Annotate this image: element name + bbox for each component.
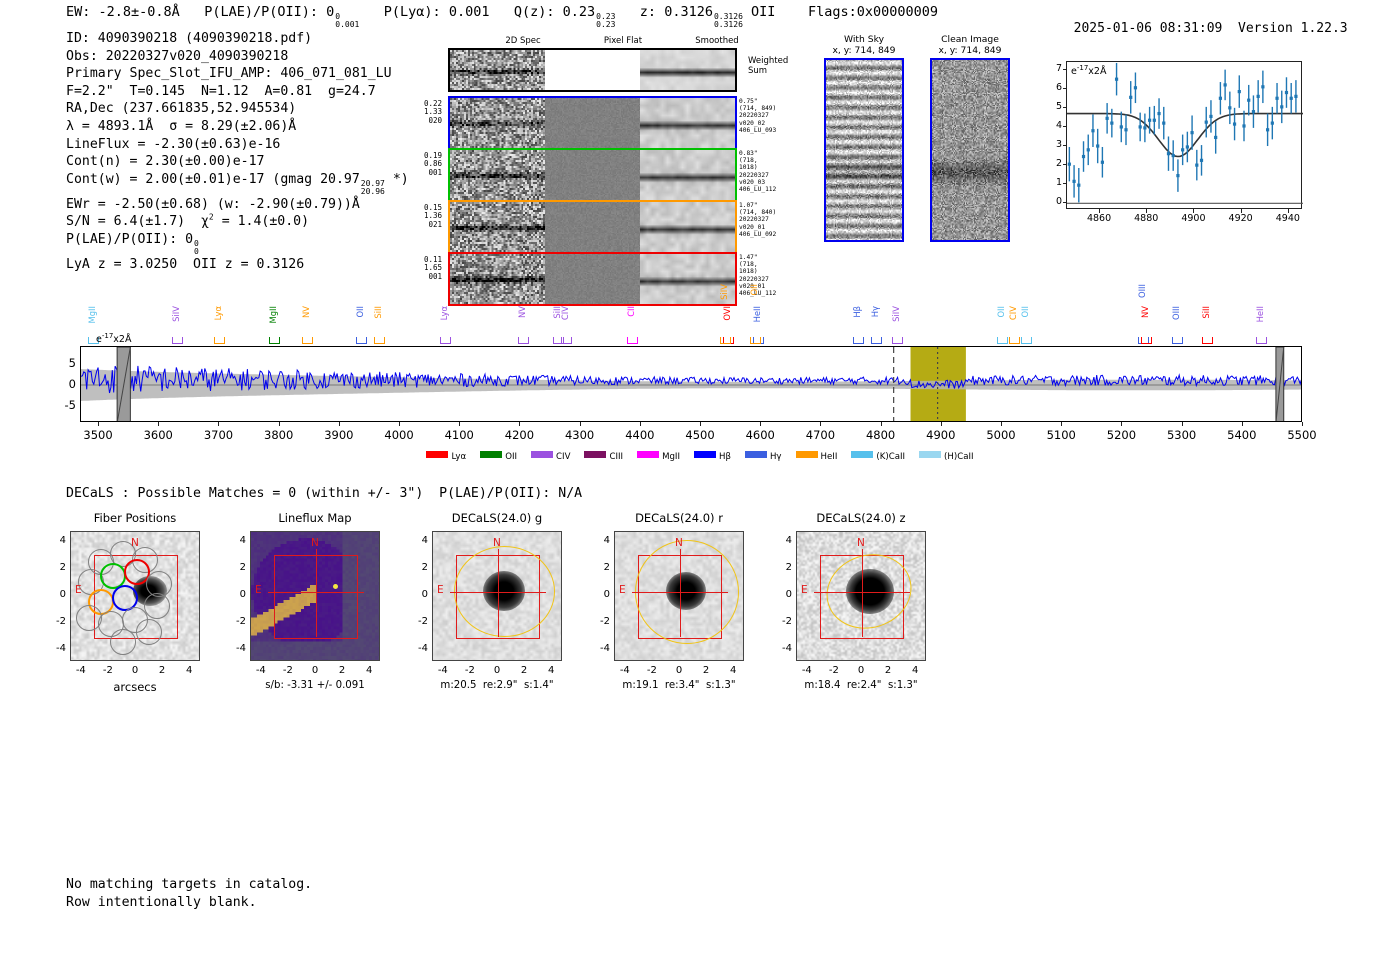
- panel-ytick: 2: [228, 562, 246, 573]
- line-profile-ytickmark: [1063, 145, 1067, 146]
- plae-line-sub: 0: [194, 248, 199, 256]
- panel-xtick: -2: [458, 665, 482, 676]
- line-profile-xtick: 4860: [1079, 213, 1119, 224]
- crosshair-vertical: [316, 549, 317, 637]
- full-spectrum-units: e-17x2Å: [96, 332, 131, 345]
- spectrum-line-label: SiIV: [719, 284, 729, 300]
- full-spectrum-ytick: 5: [50, 356, 76, 370]
- full-spectrum-xtick: 3600: [128, 428, 188, 442]
- panel-image-lineflux-map[interactable]: [250, 531, 380, 661]
- qz-label: Q(z):: [514, 4, 555, 20]
- full-spectrum-xtick: 4500: [670, 428, 730, 442]
- legend-item: OII: [480, 451, 517, 462]
- spectrum-line-label: Lyα: [439, 306, 449, 320]
- fiber-right-label: 406_LU_093: [739, 127, 776, 134]
- panel-xtick: -4: [69, 665, 93, 676]
- panel-title-decals-z: DECaLS(24.0) z: [756, 511, 966, 525]
- compass-east: E: [437, 584, 444, 596]
- spectrum-line-label: NV: [301, 306, 311, 318]
- panel-image-decals-g[interactable]: [432, 531, 562, 661]
- compass-east: E: [801, 584, 808, 596]
- panel-ytick: -2: [228, 616, 246, 627]
- panel-image-decals-r[interactable]: [614, 531, 744, 661]
- full-spectrum-xtickmark: [580, 422, 581, 426]
- panel-caption-decals-z: m:18.4 re:2.4" s:1.3": [756, 680, 966, 691]
- full-spectrum-xtick: 3900: [309, 428, 369, 442]
- fiber-left-labels: 0.190.86001: [408, 152, 442, 177]
- line-profile-xtick: 4940: [1268, 213, 1308, 224]
- legend-item: (K)CaII: [851, 451, 905, 462]
- spectrum-line-bracket: [627, 337, 638, 344]
- spectrum-line-bracket: [1202, 337, 1213, 344]
- fiber-pixelflat: [545, 202, 640, 252]
- panel-ytick: -4: [48, 643, 66, 654]
- spectrum-line-label: OII: [355, 306, 365, 318]
- version: Version 1.22.3: [1238, 21, 1348, 36]
- full-spectrum-xtick: 4400: [610, 428, 670, 442]
- panel-ytick: 0: [410, 589, 428, 600]
- legend-swatch: [637, 451, 659, 458]
- fiber-left-label: 021: [408, 221, 442, 229]
- cont-w-suffix: *): [393, 172, 409, 187]
- info-line-ewr: EWr = -2.50(±0.68) (w: -2.90(±0.79))Å: [66, 196, 409, 214]
- panel-xtick: -2: [96, 665, 120, 676]
- spectrum-line-label: HeII: [752, 306, 762, 322]
- line-profile-ytick: 5: [1050, 101, 1062, 112]
- fiber-smoothed: [640, 98, 735, 148]
- panel-ytick: -4: [592, 643, 610, 654]
- line-profile-ytickmark: [1063, 183, 1067, 184]
- panel-xtick: -4: [431, 665, 455, 676]
- sn-suffix: = 1.4(±0.0): [214, 214, 309, 229]
- spectrum-line-bracket: [1256, 337, 1267, 344]
- panel-xlabel-fiber-positions: arcsecs: [30, 680, 240, 694]
- full-spectrum-xtick: 4300: [550, 428, 610, 442]
- footer-note: No matching targets in catalog. Row inte…: [66, 876, 312, 911]
- spectrum-line-label: SiIV: [891, 306, 901, 322]
- line-profile-xtickmark: [1288, 209, 1289, 213]
- crosshair-vertical: [862, 549, 863, 637]
- line-profile-ytick: 3: [1050, 139, 1062, 150]
- compass-north: N: [493, 537, 501, 549]
- line-profile-ytick: 4: [1050, 120, 1062, 131]
- fiber-left-labels: 0.221.33020: [408, 100, 442, 125]
- spectrum-line-bracket: [853, 337, 864, 344]
- spectrum-line-label: SiII: [373, 306, 383, 319]
- footer-line-1: No matching targets in catalog.: [66, 876, 312, 894]
- spectrum-line-bracket: [1141, 337, 1152, 344]
- fiber-2dspec: [450, 150, 545, 200]
- legend-swatch: [584, 451, 606, 458]
- full-spectrum-xtickmark: [881, 422, 882, 426]
- spectrum-line-bracket: [720, 337, 731, 344]
- z-sub: 0.3126: [714, 21, 743, 29]
- fiber-right-labels: 0.83"(718, 1018)20220327v020_03406_LU_11…: [739, 150, 776, 193]
- fiber-right-label: (718, 1018): [739, 157, 776, 171]
- fiber-right-label: (714, 849): [739, 105, 776, 112]
- legend-swatch: [745, 451, 767, 458]
- panel-image-decals-z[interactable]: [796, 531, 926, 661]
- line-profile-ytickmark: [1063, 164, 1067, 165]
- plae-sub: 0.001: [335, 21, 359, 29]
- info-line-lambda-sigma: λ = 4893.1Å σ = 8.29(±2.06)Å: [66, 118, 409, 136]
- footer-line-2: Row intentionally blank.: [66, 894, 312, 912]
- z-species: OII: [751, 4, 775, 20]
- panel-xtick: 2: [150, 665, 174, 676]
- panel-title-fiber-positions: Fiber Positions: [30, 511, 240, 525]
- compass-east: E: [255, 584, 262, 596]
- panel-xtick: 2: [512, 665, 536, 676]
- panel-ytick: 4: [228, 535, 246, 546]
- panel-ytick: -2: [774, 616, 792, 627]
- legend-label: MgII: [662, 452, 680, 462]
- lineflux-peak-marker: [333, 584, 338, 589]
- panel-ytick: 0: [592, 589, 610, 600]
- panel-xtick: 0: [303, 665, 327, 676]
- spec2d-fiber-row[interactable]: [448, 148, 737, 202]
- legend-swatch: [796, 451, 818, 458]
- col-title-smoothed: Smoothed: [672, 36, 762, 46]
- col-title-2dspec: 2D Spec: [478, 36, 568, 46]
- z-label: z:: [640, 4, 656, 20]
- panel-ytick: -2: [592, 616, 610, 627]
- panel-title-lineflux-map: Lineflux Map: [210, 511, 420, 525]
- panel-ytick: 0: [48, 589, 66, 600]
- full-spectrum-xtickmark: [1242, 422, 1243, 426]
- fiber-right-label: (718, 1018): [739, 261, 776, 275]
- line-profile-data: [1067, 62, 1303, 210]
- panel-xtick: 0: [485, 665, 509, 676]
- legend-label: CIV: [556, 452, 570, 462]
- spectrum-line-label: Hγ: [870, 306, 880, 317]
- spectrum-line-label: NV: [517, 306, 527, 318]
- fiber-right-label: 0.83": [739, 150, 776, 157]
- fiber-circle[interactable]: [144, 593, 170, 619]
- spectrum-line-bracket: [871, 337, 882, 344]
- full-spectrum-xtickmark: [459, 422, 460, 426]
- legend-swatch: [851, 451, 873, 458]
- line-profile-xtickmark: [1099, 209, 1100, 213]
- spectrum-line-label: SiII: [1201, 306, 1211, 319]
- weighted-sum-2dspec: [450, 50, 545, 90]
- legend-item: Hβ: [694, 451, 731, 462]
- panel-xtick: -2: [276, 665, 300, 676]
- panel-ytick: 4: [774, 535, 792, 546]
- spectrum-line-label: NV: [1140, 306, 1150, 318]
- line-profile-ytick: 6: [1050, 82, 1062, 93]
- full-spectrum-xtick: 3700: [188, 428, 248, 442]
- spec2d-weighted-sum-row: [448, 48, 737, 92]
- legend-label: CIII: [609, 452, 623, 462]
- panel-xtick: 0: [123, 665, 147, 676]
- legend-item: Hγ: [745, 451, 782, 462]
- fiber-2dspec: [450, 202, 545, 252]
- full-spectrum-xtickmark: [399, 422, 400, 426]
- full-spectrum-xtickmark: [1182, 422, 1183, 426]
- fiber-right-labels: 1.07"(714, 840)20220327v020_01406_LU_092: [739, 202, 776, 238]
- spectrum-line-label: OII: [996, 306, 1006, 318]
- fiber-right-label: v020_03: [739, 179, 776, 186]
- full-spectrum-xtick: 5300: [1152, 428, 1212, 442]
- panel-ytick: -4: [228, 643, 246, 654]
- spectrum-line-bracket: [374, 337, 385, 344]
- cont-w-sub: 20.96: [361, 188, 385, 196]
- spectrum-line-bracket: [892, 337, 903, 344]
- fiber-smoothed: [640, 202, 735, 252]
- spectrum-line-label: MgII: [268, 306, 278, 323]
- fiber-circle[interactable]: [136, 619, 162, 645]
- panel-ytick: 0: [774, 589, 792, 600]
- spectrum-line-label: Hβ: [852, 306, 862, 318]
- full-spectrum-xtickmark: [1121, 422, 1122, 426]
- panel-ytick: -2: [410, 616, 428, 627]
- plae-label: P(LAE)/P(OII):: [204, 4, 318, 20]
- panel-image-fiber-positions[interactable]: [70, 531, 200, 661]
- full-spectrum-xtickmark: [640, 422, 641, 426]
- plya-label: P(Lyα):: [384, 4, 441, 20]
- full-spectrum-xtick: 4100: [429, 428, 489, 442]
- legend-label: Lyα: [451, 452, 466, 462]
- compass-east: E: [619, 584, 626, 596]
- legend-label: (H)CaII: [944, 452, 974, 462]
- line-profile-xtick: 4920: [1221, 213, 1261, 224]
- line-profile-ytickmark: [1063, 88, 1067, 89]
- plae-line-label: P(LAE)/P(OII): 0: [66, 232, 193, 247]
- panel-xtick: 2: [694, 665, 718, 676]
- legend-label: (K)CaII: [876, 452, 905, 462]
- fiber-right-label: 20220327: [739, 172, 776, 179]
- object-info-block: ID: 4090390218 (4090390218.pdf) Obs: 202…: [66, 30, 409, 274]
- full-spectrum-xtick: 3500: [68, 428, 128, 442]
- legend-swatch: [919, 451, 941, 458]
- cont-w-prefix: Cont(w) = 2.00(±0.01)e-17 (gmag 20.97: [66, 172, 360, 187]
- qz-sub: 0.23: [596, 21, 615, 29]
- fiber-circle[interactable]: [76, 605, 102, 631]
- panel-caption-decals-r: m:19.1 re:3.4" s:1.3": [574, 680, 784, 691]
- panel-xtick: 4: [903, 665, 927, 676]
- panel-xtick: 4: [721, 665, 745, 676]
- panel-ytick: -4: [410, 643, 428, 654]
- fiber-left-label: 020: [408, 117, 442, 125]
- legend-item: (H)CaII: [919, 451, 974, 462]
- panel-xtick: 0: [849, 665, 873, 676]
- panel-xtick: 4: [177, 665, 201, 676]
- full-spectrum-xtickmark: [941, 422, 942, 426]
- spectrum-line-bracket: [1021, 337, 1032, 344]
- plya-value: 0.001: [449, 4, 490, 20]
- full-spectrum-xtick: 4000: [369, 428, 429, 442]
- spectrum-line-label: OIII: [1171, 306, 1181, 320]
- crosshair-vertical: [498, 549, 499, 637]
- legend-label: Hγ: [770, 452, 782, 462]
- full-spectrum-xtickmark: [98, 422, 99, 426]
- fiber-2dspec: [450, 98, 545, 148]
- spectrum-line-bracket: [518, 337, 529, 344]
- spectrum-line-label: SiIV: [171, 306, 181, 322]
- full-spectrum-xtickmark: [700, 422, 701, 426]
- legend-label: HeII: [821, 452, 838, 462]
- cutout-title-clean-image: Clean Image: [900, 34, 1040, 45]
- full-spectrum-xtick: 5200: [1091, 428, 1151, 442]
- panel-caption-lineflux-map: s/b: -3.31 +/- 0.091: [210, 680, 420, 691]
- ew-value: -2.8±-0.8Å: [99, 4, 180, 20]
- full-spectrum-xtick: 4900: [911, 428, 971, 442]
- spectrum-line-label: OIII: [1137, 284, 1147, 298]
- spectrum-line-bracket: [440, 337, 451, 344]
- panel-ytick: 4: [592, 535, 610, 546]
- spectrum-line-label: Lyα: [213, 306, 223, 320]
- spectrum-line-label: SiII: [552, 306, 562, 319]
- legend-swatch: [694, 451, 716, 458]
- fiber-right-label: 1.07": [739, 202, 776, 209]
- spectrum-line-bracket: [302, 337, 313, 344]
- panel-xtick: -4: [613, 665, 637, 676]
- crosshair-vertical: [680, 549, 681, 637]
- panel-ytick: 4: [410, 535, 428, 546]
- info-line-seeing: F=2.2" T=0.145 N=1.12 A=0.81 g=24.7: [66, 83, 409, 101]
- full-spectrum-xtick: 4700: [790, 428, 850, 442]
- panel-title-decals-r: DECaLS(24.0) r: [574, 511, 784, 525]
- spectrum-line-label: OII: [749, 284, 759, 296]
- fiber-left-label: 001: [408, 169, 442, 177]
- cutout-image-with-sky[interactable]: [824, 58, 904, 242]
- timestamp: 2025-01-06 08:31:09: [1074, 21, 1223, 36]
- line-profile-axes: e-17x2Å: [1066, 61, 1302, 209]
- panel-ytick: 2: [592, 562, 610, 573]
- full-spectrum-xtickmark: [339, 422, 340, 426]
- full-spectrum-xtickmark: [279, 422, 280, 426]
- info-line-obs: Obs: 20220327v020_4090390218: [66, 48, 409, 66]
- col-title-pixelflat: Pixel Flat: [578, 36, 668, 46]
- legend-label: OII: [505, 452, 517, 462]
- fiber-right-label: 20220327: [739, 216, 776, 223]
- spectrum-line-bracket: [356, 337, 367, 344]
- legend-item: CIII: [584, 451, 623, 462]
- full-spectrum-xtickmark: [158, 422, 159, 426]
- spectrum-line-bracket: [172, 337, 183, 344]
- compass-east: E: [75, 584, 82, 596]
- panel-xtick: -2: [640, 665, 664, 676]
- fiber-right-label: 406_LU_092: [739, 231, 776, 238]
- panel-ytick: -4: [774, 643, 792, 654]
- spectrum-line-bracket: [269, 337, 280, 344]
- legend-item: MgII: [637, 451, 680, 462]
- info-line-lineflux: LineFlux = -2.30(±0.63)e-16: [66, 136, 409, 154]
- weighted-sum-smoothed: [640, 50, 735, 90]
- full-spectrum-xtickmark: [760, 422, 761, 426]
- legend-item: CIV: [531, 451, 570, 462]
- qz-value: 0.23: [563, 4, 596, 20]
- weighted-sum-pixelflat: [545, 50, 640, 90]
- panel-ytick: 2: [410, 562, 428, 573]
- panel-ytick: 2: [774, 562, 792, 573]
- line-profile-ytick: 0: [1050, 196, 1062, 207]
- panel-xtick: 2: [330, 665, 354, 676]
- fiber-right-label: 1.47": [739, 254, 776, 261]
- line-profile-xtickmark: [1146, 209, 1147, 213]
- panel-xtick: -2: [822, 665, 846, 676]
- panel-xtick: 2: [876, 665, 900, 676]
- fiber-right-label: (714, 840): [739, 209, 776, 216]
- cutout-image-clean-image[interactable]: [930, 58, 1010, 242]
- full-spectrum-xtick: 5400: [1212, 428, 1272, 442]
- compass-north: N: [131, 537, 139, 549]
- full-spectrum-ytick: 0: [50, 377, 76, 391]
- line-profile-plot: e-17x2Å0123456748604880490049204940: [1036, 55, 1308, 233]
- panel-ytick: -2: [48, 616, 66, 627]
- legend-item: Lyα: [426, 451, 466, 462]
- spectrum-line-label: HeII: [1255, 306, 1265, 322]
- line-profile-xtickmark: [1193, 209, 1194, 213]
- info-line-redshifts: LyA z = 3.0250 OII z = 0.3126: [66, 256, 409, 274]
- full-spectrum-legend: LyαOIICIVCIIIMgIIHβHγHeII(K)CaII(H)CaII: [0, 451, 1400, 462]
- line-profile-units: e-17x2Å: [1071, 64, 1106, 77]
- line-profile-ytickmark: [1063, 126, 1067, 127]
- line-profile-xtickmark: [1241, 209, 1242, 213]
- cutout-coords-clean-image: x, y: 714, 849: [900, 45, 1040, 56]
- fiber-smoothed: [640, 150, 735, 200]
- info-line-cont-n: Cont(n) = 2.30(±0.00)e-17: [66, 153, 409, 171]
- full-spectrum-xtick: 3800: [249, 428, 309, 442]
- panel-xtick: -4: [249, 665, 273, 676]
- panel-xtick: 4: [539, 665, 563, 676]
- header-timestamp-version: 2025-01-06 08:31:09 Version 1.22.3: [1058, 6, 1348, 36]
- compass-north: N: [675, 537, 683, 549]
- panel-xtick: -4: [795, 665, 819, 676]
- panel-caption-decals-g: m:20.5 re:2.9" s:1.4": [392, 680, 602, 691]
- line-profile-ytick: 7: [1050, 63, 1062, 74]
- full-spectrum-xtickmark: [218, 422, 219, 426]
- fiber-right-label: v020_01: [739, 224, 776, 231]
- full-spectrum-xtickmark: [1001, 422, 1002, 426]
- weighted-sum-label-1: Weighted: [748, 56, 788, 66]
- legend-label: Hβ: [719, 452, 731, 462]
- panel-title-decals-g: DECaLS(24.0) g: [392, 511, 602, 525]
- spectrum-line-bracket: [1172, 337, 1183, 344]
- panel-xtick: 0: [667, 665, 691, 676]
- full-spectrum-xtick: 5000: [971, 428, 1031, 442]
- fiber-right-label: 406_LU_112: [739, 186, 776, 193]
- fiber-circle[interactable]: [110, 629, 136, 655]
- line-profile-xtick: 4880: [1126, 213, 1166, 224]
- spectrum-line-bracket: [214, 337, 225, 344]
- fiber-pixelflat: [545, 150, 640, 200]
- spec2d-fiber-row[interactable]: [448, 200, 737, 254]
- line-profile-xtick: 4900: [1173, 213, 1213, 224]
- line-profile-ytick: 1: [1050, 177, 1062, 188]
- spec2d-fiber-row[interactable]: [448, 96, 737, 150]
- full-spectrum-trace: [81, 347, 1302, 422]
- decals-header: DECaLS : Possible Matches = 0 (within +/…: [66, 486, 582, 501]
- spectrum-line-label: OVI: [722, 306, 732, 321]
- full-spectrum-xtick: 5500: [1272, 428, 1332, 442]
- full-spectrum-xtick: 4200: [489, 428, 549, 442]
- full-spectrum-xtickmark: [519, 422, 520, 426]
- legend-item: HeII: [796, 451, 838, 462]
- full-spectrum-xtickmark: [820, 422, 821, 426]
- spectrum-line-label: CIV: [1008, 306, 1018, 320]
- flags-value: Flags:0x00000009: [808, 4, 938, 20]
- info-line-primary-spec: Primary Spec_Slot_IFU_AMP: 406_071_081_L…: [66, 65, 409, 83]
- spectrum-line-label: OII: [1020, 306, 1030, 318]
- fiber-pixelflat: [545, 98, 640, 148]
- full-spectrum-xtick: 5100: [1031, 428, 1091, 442]
- line-profile-ytickmark: [1063, 202, 1067, 203]
- full-spectrum-xtick: 4800: [851, 428, 911, 442]
- full-spectrum-plot: MgIISiIVLyαMgIINVOIISiIILyαNVCIVSiIICIIO…: [0, 278, 1400, 468]
- line-profile-ytickmark: [1063, 69, 1067, 70]
- panel-ytick: 2: [48, 562, 66, 573]
